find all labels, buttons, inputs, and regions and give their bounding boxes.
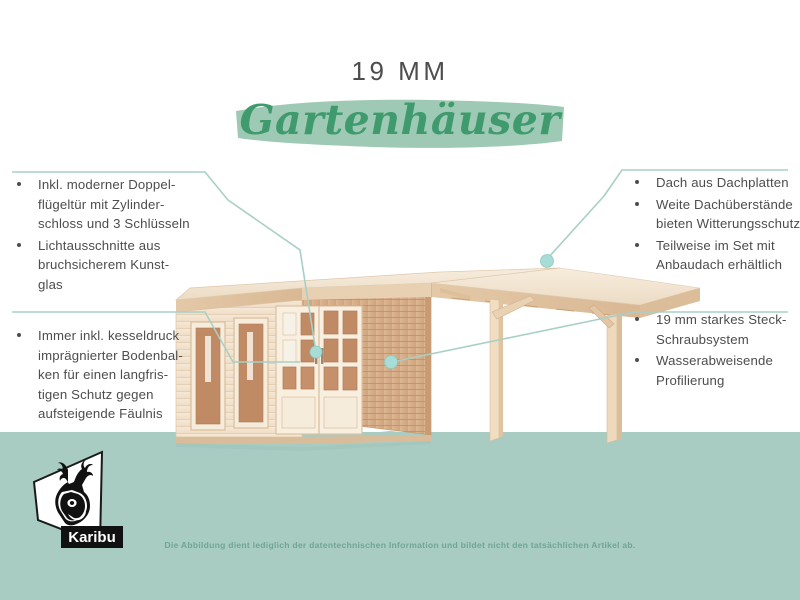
- list-item: Lichtausschnitte aus bruchsicherem Kunst…: [0, 236, 215, 295]
- header-title-wrap: Gartenhäuser: [0, 91, 800, 157]
- list-item: Weite Dachüberstände bieten Witterungssc…: [618, 195, 800, 234]
- callout-bottom-right: 19 mm starkes Steck- Schraubsystem Wasse…: [618, 310, 800, 392]
- canopy-post-back: [490, 299, 503, 441]
- bullet-icon: [17, 182, 21, 186]
- poster-canvas: 19 MM Gartenhäuser: [0, 0, 800, 600]
- feature-line: Dach aus Dachplatten: [656, 175, 789, 190]
- window-right: [234, 318, 268, 428]
- feature-line: Schraubsystem: [656, 332, 749, 347]
- feature-line: 19 mm starkes Steck-: [656, 312, 787, 327]
- feature-line: schloss und 3 Schlüsseln: [38, 216, 190, 231]
- footer-disclaimer: Die Abbildung dient lediglich der datent…: [0, 540, 800, 550]
- feature-line: flügeltür mit Zylinder-: [38, 197, 165, 212]
- feature-line: glas: [38, 277, 63, 292]
- bullet-icon: [635, 180, 639, 184]
- feature-line: Weite Dachüberstände: [656, 197, 793, 212]
- feature-line: bieten Witterungsschutz: [656, 216, 800, 231]
- house-base: [176, 435, 431, 451]
- bullet-icon: [17, 243, 21, 247]
- feature-line: aufsteigende Fäulnis: [38, 406, 163, 421]
- list-item: Inkl. moderner Doppel- flügeltür mit Zyl…: [0, 175, 215, 234]
- bullet-icon: [635, 317, 639, 321]
- bullet-icon: [17, 333, 21, 337]
- callout-bottom-left: Immer inkl. kesseldruck imprägnierter Bo…: [0, 326, 215, 426]
- feature-line: Anbaudach erhältlich: [656, 257, 782, 272]
- bullet-icon: [635, 358, 639, 362]
- feature-line: Profilierung: [656, 373, 725, 388]
- feature-line: tigen Schutz gegen: [38, 387, 154, 402]
- list-item: Dach aus Dachplatten: [618, 173, 800, 193]
- door-handle-icon: [315, 348, 317, 364]
- list-item: 19 mm starkes Steck- Schraubsystem: [618, 310, 800, 349]
- feature-list-top-right: Dach aus Dachplatten Weite Dachüberständ…: [618, 173, 800, 275]
- list-item: Wasserabweisende Profilierung: [618, 351, 800, 390]
- feature-list-top-left: Inkl. moderner Doppel- flügeltür mit Zyl…: [0, 175, 215, 294]
- bullet-icon: [635, 202, 639, 206]
- header-title: Gartenhäuser: [0, 91, 800, 149]
- poster-header: 19 MM Gartenhäuser: [0, 0, 800, 157]
- list-item: Teilweise im Set mit Anbaudach erhältlic…: [618, 236, 800, 275]
- feature-line: imprägnierter Bodenbal-: [38, 348, 183, 363]
- feature-line: bruchsicherem Kunst-: [38, 257, 169, 272]
- feature-line: ken für einen langfris-: [38, 367, 168, 382]
- list-item: Immer inkl. kesseldruck imprägnierter Bo…: [0, 326, 215, 424]
- header-subtitle: 19 MM: [0, 56, 800, 87]
- feature-list-bottom-left: Immer inkl. kesseldruck imprägnierter Bo…: [0, 326, 215, 424]
- callout-top-right: Dach aus Dachplatten Weite Dachüberständ…: [618, 173, 800, 277]
- double-door: [276, 306, 362, 434]
- feature-line: Lichtausschnitte aus: [38, 238, 161, 253]
- callout-top-left: Inkl. moderner Doppel- flügeltür mit Zyl…: [0, 175, 215, 296]
- feature-line: Immer inkl. kesseldruck: [38, 328, 179, 343]
- feature-line: Inkl. moderner Doppel-: [38, 177, 175, 192]
- feature-line: Wasserabweisende: [656, 353, 773, 368]
- feature-line: Teilweise im Set mit: [656, 238, 775, 253]
- feature-list-bottom-right: 19 mm starkes Steck- Schraubsystem Wasse…: [618, 310, 800, 390]
- bullet-icon: [635, 243, 639, 247]
